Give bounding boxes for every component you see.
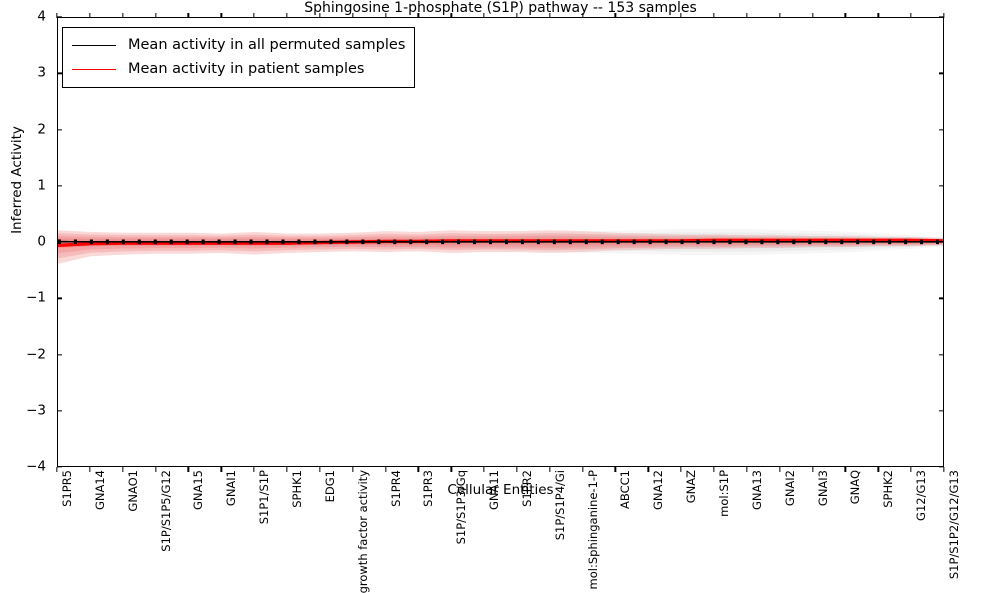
y-axis-tick-mark (57, 354, 62, 355)
x-axis-tick-label: S1P/S1P5/G12 (161, 470, 173, 552)
x-axis-tick-mark (549, 467, 550, 472)
x-axis-tick-mark-top (286, 13, 287, 18)
x-axis-tick-mark (188, 467, 189, 472)
x-axis-tick-mark-top (352, 13, 353, 18)
y-axis-tick: −3 (0, 404, 46, 418)
legend-swatch-patient (72, 69, 116, 70)
x-axis-tick-label: EDG1 (325, 470, 337, 502)
y-axis-tick: −2 (0, 348, 46, 362)
legend-label-permuted: Mean activity in all permuted samples (128, 38, 405, 53)
x-axis-tick-mark-top (648, 13, 649, 18)
x-axis-tick-mark-top (483, 13, 484, 18)
x-axis-tick-mark-top (812, 13, 813, 18)
x-axis-tick-label: S1P/S1P2/G12/G13 (949, 470, 961, 579)
x-axis-tick-mark (253, 467, 254, 472)
x-axis-tick-label: GNAZ (686, 470, 698, 503)
x-axis-tick-mark (286, 467, 287, 472)
x-axis-tick-mark (746, 467, 747, 472)
x-axis-tick-mark-top (122, 13, 123, 18)
x-axis-tick-mark-top (845, 13, 846, 18)
x-axis-tick-mark (516, 467, 517, 472)
x-axis-tick-mark (681, 467, 682, 472)
y-axis-tick-mark (57, 16, 62, 17)
x-axis-tick-mark-top (418, 13, 419, 18)
x-axis-tick-mark (221, 467, 222, 472)
legend-item-patient: Mean activity in patient samples (72, 57, 405, 81)
y-axis-tick-mark (57, 298, 62, 299)
x-axis-tick-label: mol:Sphinganine-1-P (588, 470, 600, 589)
y-axis-tick: 4 (0, 10, 46, 24)
x-axis-tick-mark (910, 467, 911, 472)
x-axis-tick-label: GNAI1 (226, 470, 238, 506)
y-axis-tick-mark (939, 354, 944, 355)
y-axis-tick-mark (57, 73, 62, 74)
y-axis-tick-mark (57, 410, 62, 411)
x-axis-tick-label: GNAI3 (818, 470, 830, 506)
x-axis-tick-label: SPHK2 (883, 470, 895, 508)
x-axis-tick-mark (56, 467, 57, 472)
x-axis-tick-mark (122, 467, 123, 472)
x-axis-tick-mark-top (516, 13, 517, 18)
figure: Sphingosine 1-phosphate (S1P) pathway --… (0, 0, 1000, 500)
x-axis-tick-label: mol:S1P (719, 470, 731, 517)
x-axis-tick-label: S1P/S1P4/Gi (555, 470, 567, 540)
x-axis-tick-mark-top (779, 13, 780, 18)
x-axis-tick-label: GNA13 (752, 470, 764, 510)
x-axis-tick-mark-top (615, 13, 616, 18)
x-axis-tick-mark-top (221, 13, 222, 18)
x-axis-tick-mark-top (188, 13, 189, 18)
x-axis-tick-label: G12/G13 (916, 470, 928, 521)
x-axis-tick-label: S1PR4 (391, 470, 403, 507)
x-axis-tick-mark (845, 467, 846, 472)
y-axis-tick-mark (939, 185, 944, 186)
x-axis-tick-mark (319, 467, 320, 472)
x-axis-tick-label: GNAI2 (785, 470, 797, 506)
x-axis-tick-mark (713, 467, 714, 472)
x-axis-tick-mark-top (943, 13, 944, 18)
x-axis-tick-label: GNA14 (95, 470, 107, 510)
x-axis-tick-mark (352, 467, 353, 472)
x-axis-tick-mark-top (385, 13, 386, 18)
y-axis-tick-mark (939, 298, 944, 299)
x-axis-tick-mark (483, 467, 484, 472)
x-axis-tick-mark (615, 467, 616, 472)
x-axis-tick-mark-top (549, 13, 550, 18)
x-axis-tick-label: GNA12 (653, 470, 665, 510)
x-axis-tick-label: S1PR2 (522, 470, 534, 507)
y-axis-tick-mark (57, 241, 62, 242)
x-axis-tick-mark (89, 467, 90, 472)
x-axis-tick-mark (779, 467, 780, 472)
x-axis-tick-label: SPHK1 (292, 470, 304, 508)
x-axis-tick-mark-top (713, 13, 714, 18)
x-axis-tick-mark (582, 467, 583, 472)
x-axis-tick-mark (451, 467, 452, 472)
x-axis-tick-label: growth factor activity (358, 470, 370, 593)
legend-label-patient: Mean activity in patient samples (128, 62, 364, 77)
y-axis-tick-mark (57, 185, 62, 186)
x-axis-tick-mark-top (910, 13, 911, 18)
x-axis-tick-mark-top (89, 13, 90, 18)
x-axis-tick-label: GNA15 (193, 470, 205, 510)
x-axis-tick-mark-top (319, 13, 320, 18)
x-axis-tick-mark (418, 467, 419, 472)
x-axis-tick-mark-top (878, 13, 879, 18)
x-axis-tick-mark (943, 467, 944, 472)
x-axis-tick-label: S1P1/S1P (259, 470, 271, 524)
y-axis-tick-mark (57, 466, 62, 467)
x-axis-tick-mark-top (155, 13, 156, 18)
legend-item-permuted: Mean activity in all permuted samples (72, 33, 405, 57)
x-axis-tick-mark-top (56, 13, 57, 18)
x-axis-tick-mark (812, 467, 813, 472)
x-axis-tick-mark-top (746, 13, 747, 18)
y-axis-tick: −4 (0, 460, 46, 474)
legend-swatch-permuted (72, 45, 116, 46)
x-axis-tick-mark-top (582, 13, 583, 18)
y-axis-tick-mark (939, 129, 944, 130)
x-axis-tick-label: GNAQ (850, 470, 862, 504)
x-axis-tick-mark (385, 467, 386, 472)
legend: Mean activity in all permuted samples Me… (62, 27, 415, 88)
x-axis-tick-mark (648, 467, 649, 472)
x-axis-tick-label: GNAO1 (128, 470, 140, 512)
y-axis-label: Inferred Activity (9, 70, 25, 290)
x-axis-tick-mark-top (451, 13, 452, 18)
x-axis-tick-mark (155, 467, 156, 472)
x-axis-tick-mark-top (681, 13, 682, 18)
x-axis-tick-label: S1P/S1P3/Gq (456, 470, 468, 544)
y-axis-tick-mark (57, 129, 62, 130)
x-axis-tick-label: S1PR3 (423, 470, 435, 507)
x-axis-tick-label: S1PR5 (62, 470, 74, 507)
x-axis-tick-label: GNA11 (489, 470, 501, 510)
x-axis-tick-label: ABCC1 (620, 470, 632, 509)
x-axis-tick-mark-top (253, 13, 254, 18)
y-axis-tick-mark (939, 241, 944, 242)
y-axis-tick-mark (939, 73, 944, 74)
x-axis-tick-mark (878, 467, 879, 472)
y-axis-tick: −1 (0, 292, 46, 306)
y-axis-tick-mark (939, 410, 944, 411)
